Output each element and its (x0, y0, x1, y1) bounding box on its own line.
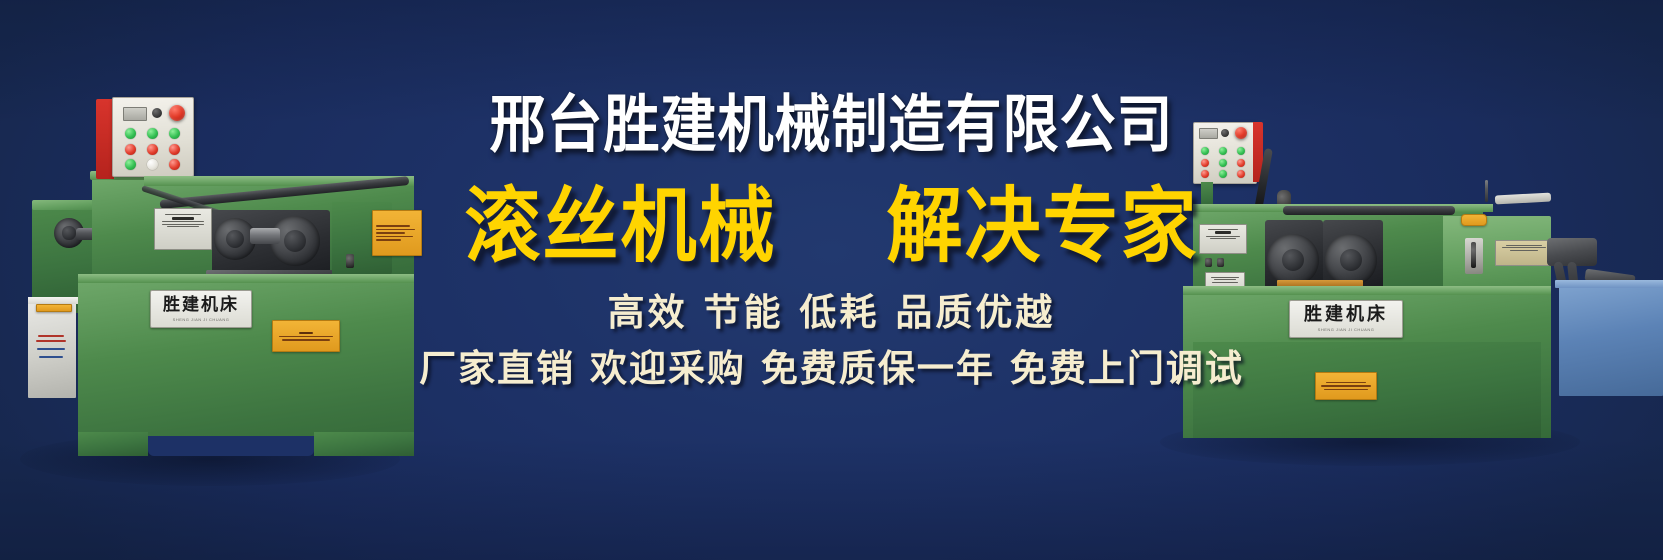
left-machine-nameplate-cn: 胜建机床 (163, 297, 239, 314)
left-machine-work-shaft (250, 228, 280, 244)
right-machine-base-top-edge (1183, 286, 1551, 295)
right-machine-panel-button-7[interactable] (1201, 170, 1209, 178)
right-machine-panel-button-5[interactable] (1219, 159, 1227, 167)
company-name: 邢台胜建机械制造有限公司 (490, 95, 1174, 158)
right-machine-switch-right[interactable] (1217, 258, 1224, 267)
machine-left: 胜建机床 SHENG JIAN JI CHUANG (14, 92, 414, 462)
left-machine-panel-button-8[interactable] (147, 159, 158, 170)
left-machine-side-cabinet-text (34, 332, 68, 362)
right-machine-spec-plate (1199, 224, 1247, 254)
right-machine-antenna (1485, 180, 1488, 202)
promotional-banner: 胜建机床 SHENG JIAN JI CHUANG (0, 0, 1663, 560)
left-machine-side-cabinet-label (36, 304, 72, 312)
right-machine-right-plate (1495, 240, 1553, 266)
right-machine-switch-left[interactable] (1205, 258, 1212, 267)
right-machine-nameplate-pinyin: SHENG JIAN JI CHUANG (1318, 327, 1375, 332)
right-machine-panel-selector-knob[interactable] (1221, 129, 1229, 137)
left-machine-foot-right (314, 432, 414, 456)
right-machine-hydraulic-tank-top (1555, 280, 1663, 288)
left-machine-panel-button-9[interactable] (169, 159, 180, 170)
right-machine-panel-button-8[interactable] (1219, 170, 1227, 178)
left-machine-panel-selector-knob[interactable] (152, 108, 162, 118)
left-machine-panel-button-1[interactable] (125, 128, 136, 139)
left-machine-control-panel-group (96, 97, 192, 179)
headline-left: 滚丝机械 (465, 185, 777, 267)
headline: 滚丝机械 解决专家 (465, 188, 1199, 264)
right-machine-emergency-stop-button[interactable] (1235, 127, 1247, 139)
left-machine-panel-button-7[interactable] (125, 159, 136, 170)
right-machine-panel-button-1[interactable] (1201, 147, 1209, 155)
right-machine-nameplate-cn: 胜建机床 (1304, 306, 1388, 324)
right-machine-valve-stem (1471, 242, 1476, 268)
right-machine-panel-button-2[interactable] (1219, 147, 1227, 155)
right-machine-bottom-warning-label (1315, 372, 1377, 400)
left-machine-note-label (272, 320, 340, 352)
right-machine-control-panel-group (1193, 122, 1267, 184)
left-machine-panel-button-4[interactable] (125, 144, 136, 155)
right-machine-hydraulic-tank (1559, 284, 1663, 396)
headline-right: 解决专家 (887, 185, 1199, 267)
right-machine-roller-left (1267, 234, 1319, 286)
right-machine-panel-display (1199, 128, 1218, 139)
right-machine-panel-button-4[interactable] (1201, 159, 1209, 167)
right-machine-panel-button-3[interactable] (1237, 147, 1245, 155)
left-machine-emergency-stop-button[interactable] (169, 105, 185, 121)
left-machine-nameplate-pinyin: SHENG JIAN JI CHUANG (173, 317, 230, 322)
machine-right: 胜建机床 SHENG JIAN JI CHUANG (1155, 120, 1663, 440)
left-machine-grease-nipple (346, 254, 354, 268)
right-machine-top-bracket (1495, 193, 1551, 205)
right-machine-tie-bar (1283, 206, 1455, 215)
left-machine-panel-button-5[interactable] (147, 144, 158, 155)
left-machine-side-cabinet-top (28, 297, 84, 304)
left-machine-base-top-edge (78, 274, 414, 283)
left-machine-panel-button-2[interactable] (147, 128, 158, 139)
left-machine-panel-button-6[interactable] (169, 144, 180, 155)
subtitle-line-2: 厂家直销 欢迎采购 免费质保一年 免费上门调试 (419, 350, 1244, 387)
left-machine-upper-warning-label (372, 210, 422, 256)
subtitle-line-1: 高效 节能 低耗 品质优越 (608, 294, 1056, 331)
left-machine-spec-plate (154, 208, 212, 250)
right-machine-panel-button-6[interactable] (1237, 159, 1245, 167)
left-machine-control-panel[interactable] (112, 97, 194, 177)
right-machine-panel-button-9[interactable] (1237, 170, 1245, 178)
left-machine-foot-left (78, 432, 148, 456)
left-machine-panel-button-3[interactable] (169, 128, 180, 139)
left-machine-panel-display (123, 107, 147, 121)
right-machine-roller-right (1325, 234, 1377, 286)
left-machine-base-notch (148, 436, 314, 456)
right-machine-terminal-block (1461, 214, 1487, 226)
right-machine-nameplate: 胜建机床 SHENG JIAN JI CHUANG (1289, 300, 1403, 338)
left-machine-nameplate: 胜建机床 SHENG JIAN JI CHUANG (150, 290, 252, 328)
